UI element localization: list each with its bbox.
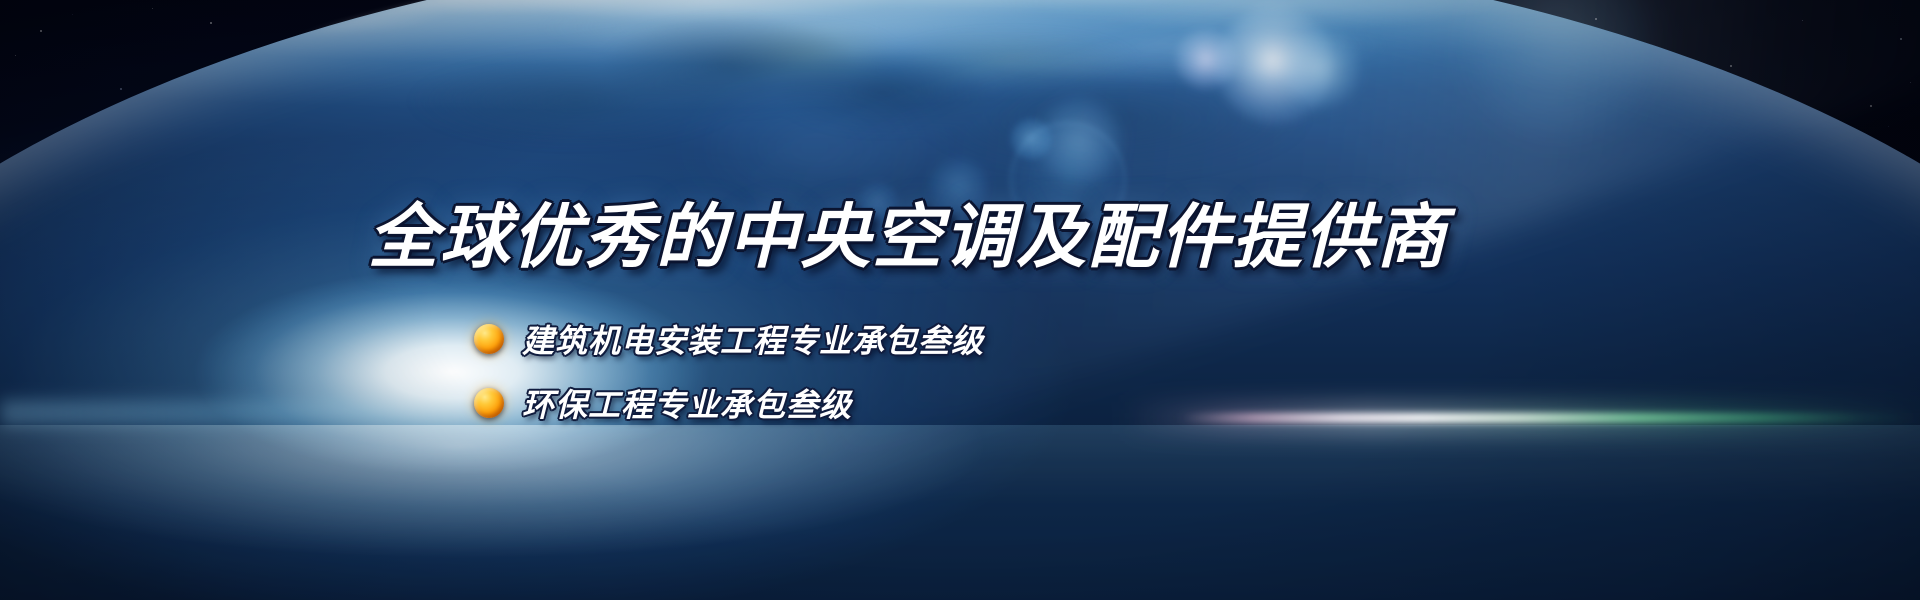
bullet-dot-icon [474,388,504,418]
page-title: 全球优秀的中央空调及配件提供商 [368,202,1448,272]
feature-list: 建筑机电安装工程专业承包叁级 环保工程专业承包叁级 [474,316,984,426]
list-item-label: 建筑机电安装工程专业承包叁级 [522,316,984,362]
list-item-label: 环保工程专业承包叁级 [522,380,852,426]
bullet-dot-icon [474,324,504,354]
hero-banner: 全球优秀的中央空调及配件提供商 建筑机电安装工程专业承包叁级 环保工程专业承包叁… [0,0,1920,600]
list-item: 环保工程专业承包叁级 [474,380,984,426]
list-item: 建筑机电安装工程专业承包叁级 [474,316,984,362]
banner-content: 全球优秀的中央空调及配件提供商 建筑机电安装工程专业承包叁级 环保工程专业承包叁… [0,0,1920,600]
